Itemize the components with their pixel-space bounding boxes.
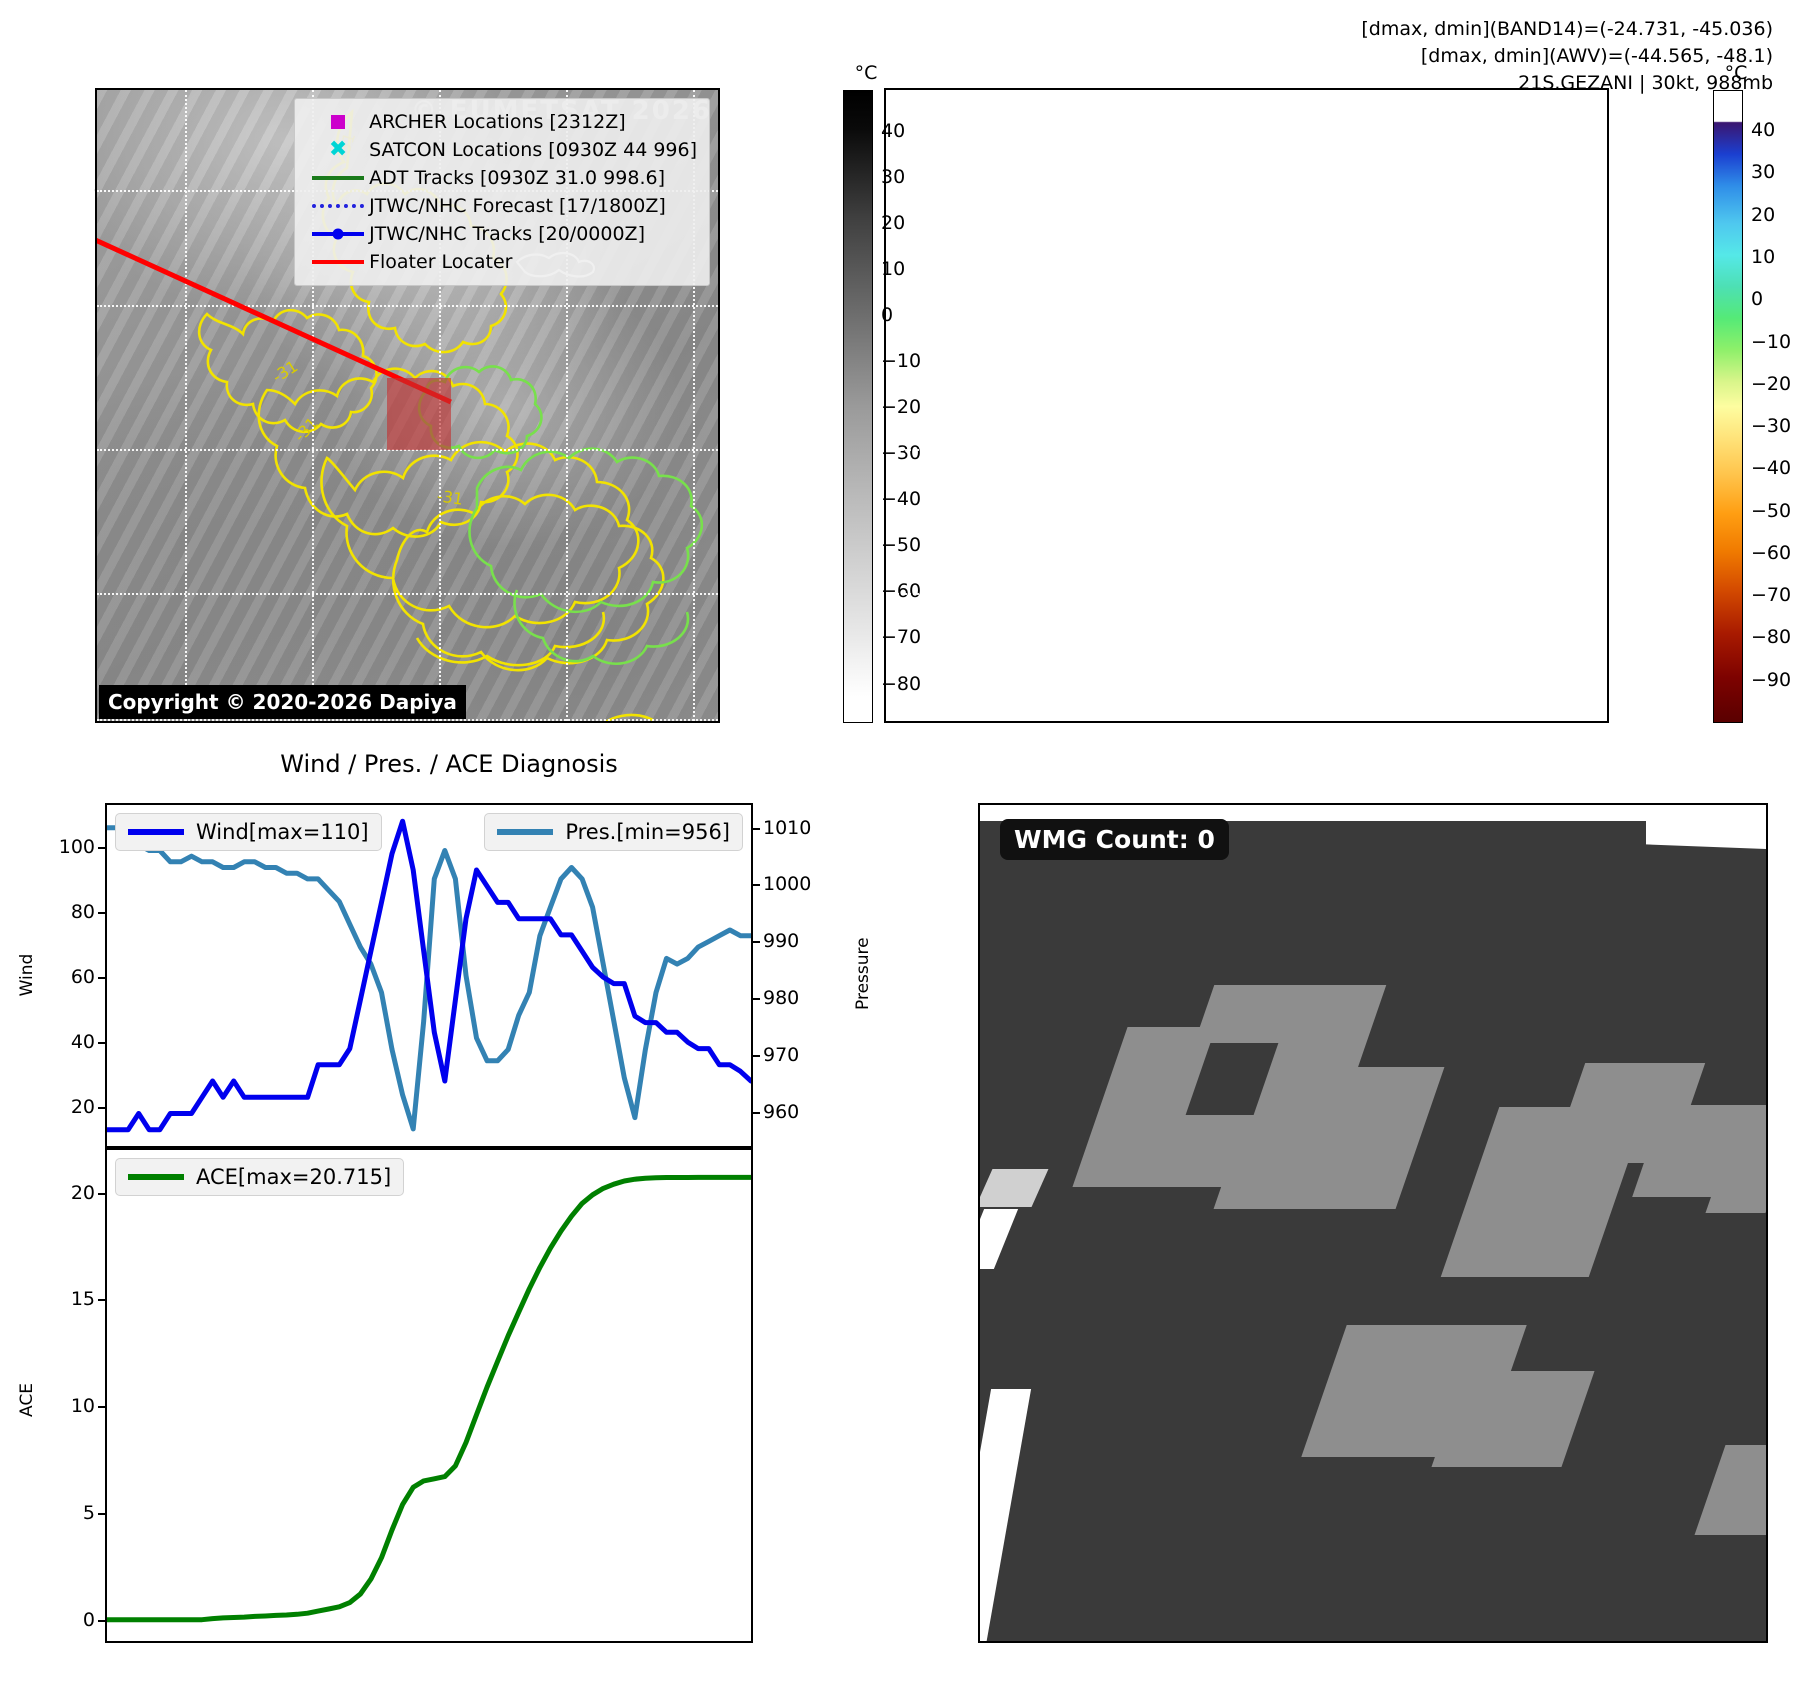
awv-cbar-tick: 30 <box>1751 161 1775 183</box>
wind-ytick: 80 <box>71 901 95 923</box>
red-line-icon <box>307 260 369 264</box>
ace-legend-line <box>128 1174 184 1180</box>
pressure-axis-label: Pressure <box>853 940 873 1010</box>
awv-cbar-tick: 0 <box>1751 288 1763 310</box>
awv-cbar-tick: −30 <box>1751 415 1791 437</box>
tick-mark <box>751 1112 760 1114</box>
ace-ytick: 10 <box>71 1395 95 1417</box>
pressure-legend[interactable]: Pres.[min=956] <box>484 813 743 851</box>
contour-label: -31 <box>436 486 465 508</box>
pressure-legend-label: Pres.[min=956] <box>565 820 730 844</box>
awv-cbar-tick: −60 <box>1751 542 1791 564</box>
ace-legend[interactable]: ACE[max=20.715] <box>115 1158 404 1196</box>
wind-legend-line <box>128 829 184 835</box>
wmg-light-patch <box>980 1169 1048 1207</box>
legend-label: Floater Locater <box>369 251 512 273</box>
awv-header-line2: [dmax, dmin](AWV)=(-44.565, -48.1) <box>1361 43 1773 70</box>
wind-pressure-chart[interactable]: Wind[max=110] Pres.[min=956] 100 80 60 4… <box>105 803 753 1148</box>
ir-map-legend: ARCHER Locations [2312Z] ✖ SATCON Locati… <box>294 98 710 286</box>
wmg-corner-white <box>980 1209 1018 1269</box>
awv-cbar-tick: −20 <box>1751 373 1791 395</box>
legend-label: ARCHER Locations [2312Z] <box>369 111 626 133</box>
tick-mark <box>98 977 107 979</box>
tick-mark <box>98 1193 107 1195</box>
pressure-ytick: 960 <box>763 1101 799 1123</box>
panel-awv: [dmax, dmin](BAND14)=(-24.731, -45.036) … <box>898 0 1797 760</box>
tick-mark <box>98 847 107 849</box>
ace-axis-label: ACE <box>17 1370 37 1430</box>
wind-ytick: 20 <box>71 1096 95 1118</box>
green-line-icon <box>307 176 369 180</box>
wmg-block <box>1695 1445 1766 1535</box>
ir-colorbar-unit: °C <box>855 62 878 84</box>
awv-cbar-tick: −90 <box>1751 669 1791 691</box>
wmg-map[interactable]: WMG Count: 0 <box>978 803 1768 1643</box>
tick-mark <box>751 884 760 886</box>
cyan-x-icon: ✖ <box>307 139 369 161</box>
ir-map[interactable]: -31 -31 -31 -31 © EUMETSAT 2026 Copyrigh… <box>95 88 720 723</box>
legend-item-jtwc-tracks[interactable]: JTWC/NHC Tracks [20/0000Z] <box>307 220 697 248</box>
legend-item-archer[interactable]: ARCHER Locations [2312Z] <box>307 108 697 136</box>
awv-colorbar: 40 30 20 10 0 −10 −20 −30 −40 −50 −60 −7… <box>1713 90 1743 723</box>
legend-item-satcon[interactable]: ✖ SATCON Locations [0930Z 44 996] <box>307 136 697 164</box>
pressure-ytick: 990 <box>763 930 799 952</box>
tick-mark <box>98 912 107 914</box>
tick-mark <box>751 998 760 1000</box>
tick-mark <box>751 941 760 943</box>
ace-plot <box>107 1150 751 1641</box>
tick-mark <box>98 1406 107 1408</box>
tick-mark <box>98 1107 107 1109</box>
legend-item-jtwc-forecast[interactable]: JTWC/NHC Forecast [17/1800Z] <box>307 192 697 220</box>
tick-mark <box>98 1513 107 1515</box>
awv-map[interactable]: 52°S 54°S 56°S 58°S 60°S 68°E 70°E 72°E … <box>884 88 1609 723</box>
legend-label: JTWC/NHC Tracks [20/0000Z] <box>369 223 645 245</box>
blue-dotted-line-icon <box>307 204 369 208</box>
awv-cbar-tick: −80 <box>1751 626 1791 648</box>
legend-label: ADT Tracks [0930Z 31.0 998.6] <box>369 167 665 189</box>
pressure-ytick: 1000 <box>763 873 811 895</box>
awv-cbar-tick: −70 <box>1751 584 1791 606</box>
ace-ytick: 20 <box>71 1182 95 1204</box>
legend-label: JTWC/NHC Forecast [17/1800Z] <box>369 195 666 217</box>
ace-ytick: 0 <box>83 1609 95 1631</box>
panel-diagnosis: Wind / Pres. / ACE Diagnosis Wind[max=11… <box>0 760 898 1690</box>
tick-mark <box>98 1299 107 1301</box>
wind-legend-label: Wind[max=110] <box>196 820 369 844</box>
blue-line-dot-icon <box>307 232 369 236</box>
awv-cbar-tick: 20 <box>1751 204 1775 226</box>
awv-cbar-tick: 40 <box>1751 119 1775 141</box>
floater-box[interactable] <box>387 378 451 450</box>
pressure-ytick: 1010 <box>763 817 811 839</box>
wind-ytick: 60 <box>71 966 95 988</box>
pressure-ytick: 970 <box>763 1044 799 1066</box>
tick-mark <box>751 1055 760 1057</box>
awv-cbar-tick: −10 <box>1751 331 1791 353</box>
copyright-banner: Copyright © 2020-2026 Dapiya <box>99 685 466 719</box>
wmg-microwave-imagery <box>980 805 1766 1641</box>
wind-ytick: 100 <box>59 836 95 858</box>
ace-legend-label: ACE[max=20.715] <box>196 1165 391 1189</box>
legend-item-floater-locater[interactable]: Floater Locater <box>307 248 697 276</box>
awv-header-line1: [dmax, dmin](BAND14)=(-24.731, -45.036) <box>1361 16 1773 43</box>
wind-ytick: 40 <box>71 1031 95 1053</box>
pressure-ytick: 980 <box>763 987 799 1009</box>
ace-chart[interactable]: ACE[max=20.715] 20 15 10 5 0 <box>105 1148 753 1643</box>
pressure-legend-line <box>497 829 553 835</box>
tick-mark <box>98 1620 107 1622</box>
awv-colorbar-unit: °C <box>1725 62 1748 84</box>
panel-wmg: WMG Count: 0 <box>898 760 1797 1690</box>
tick-mark <box>98 1042 107 1044</box>
ace-ytick: 15 <box>71 1288 95 1310</box>
awv-header-block: [dmax, dmin](BAND14)=(-24.731, -45.036) … <box>1361 16 1773 97</box>
magenta-square-icon <box>307 115 369 129</box>
diagnosis-title: Wind / Pres. / ACE Diagnosis <box>0 750 898 778</box>
ace-ytick: 5 <box>83 1502 95 1524</box>
wmg-corner-white <box>1646 805 1766 849</box>
wmg-corner-white <box>980 1389 1031 1641</box>
wind-axis-label: Wind <box>17 945 37 1005</box>
awv-coastline <box>886 90 1609 723</box>
wind-pressure-plot <box>107 805 751 1146</box>
awv-cbar-tick: −50 <box>1751 500 1791 522</box>
ir-colorbar: 40 30 20 10 0 −10 −20 −30 −40 −50 −60 −7… <box>843 90 873 723</box>
wmg-count-badge: WMG Count: 0 <box>1000 819 1229 860</box>
panel-ir-floater: METEOSAT-9 IR-3KM-DIAS FLOATER Time: 202… <box>0 0 898 760</box>
tick-mark <box>751 828 760 830</box>
awv-cbar-tick: −40 <box>1751 457 1791 479</box>
legend-label: SATCON Locations [0930Z 44 996] <box>369 139 697 161</box>
legend-item-adt-tracks[interactable]: ADT Tracks [0930Z 31.0 998.6] <box>307 164 697 192</box>
wind-legend[interactable]: Wind[max=110] <box>115 813 382 851</box>
awv-cbar-tick: 10 <box>1751 246 1775 268</box>
